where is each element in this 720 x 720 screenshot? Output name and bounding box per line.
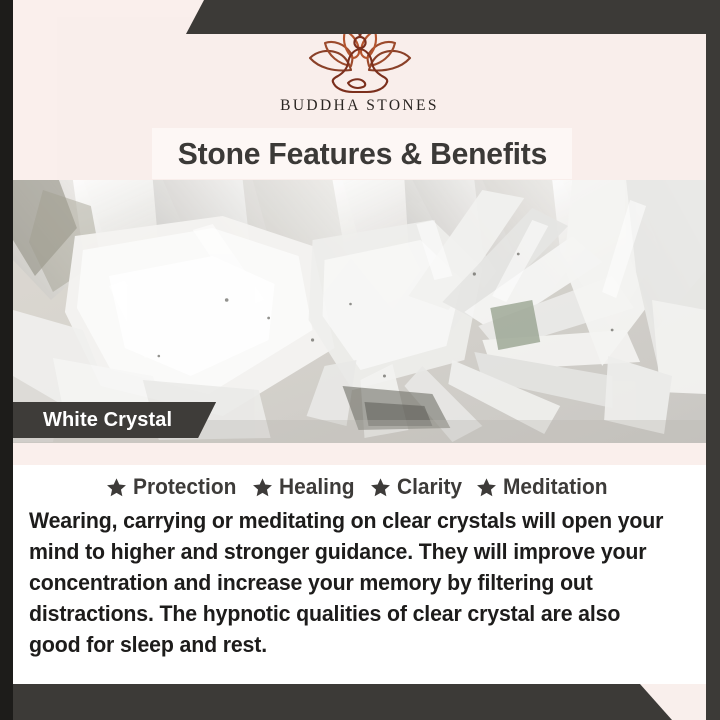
left-frame-strip (0, 0, 13, 720)
stone-description: Wearing, carrying or meditating on clear… (29, 505, 665, 660)
page-title: Stone Features & Benefits (177, 136, 546, 172)
star-icon (106, 477, 127, 498)
stone-info-poster: BUDDHA STONES Stone Features & Benefits (0, 0, 720, 720)
brand-name: BUDDHA STONES (280, 97, 439, 115)
right-frame-strip (706, 0, 720, 720)
poster-body: Protection Healing (13, 443, 706, 720)
star-icon (370, 477, 391, 498)
benefit-item-protection: Protection (106, 474, 242, 500)
title-banner: Stone Features & Benefits (152, 128, 572, 179)
cream-divider-band (13, 443, 706, 465)
stone-name-badge: White Crystal (13, 402, 216, 438)
poster-card: BUDDHA STONES Stone Features & Benefits (13, 0, 706, 720)
star-icon (252, 477, 273, 498)
star-icon (476, 477, 497, 498)
stone-name-label: White Crystal (43, 409, 172, 432)
benefit-item-meditation: Meditation (476, 474, 613, 500)
benefit-item-clarity: Clarity (370, 474, 465, 500)
benefits-row: Protection Healing (13, 467, 706, 507)
bottom-frame-bar (0, 684, 720, 720)
benefit-label: Healing (279, 474, 354, 500)
benefit-label: Meditation (503, 474, 608, 500)
top-frame-bar (186, 0, 720, 34)
benefit-label: Protection (133, 474, 236, 500)
benefit-label: Clarity (397, 474, 462, 500)
benefit-item-healing: Healing (252, 474, 358, 500)
